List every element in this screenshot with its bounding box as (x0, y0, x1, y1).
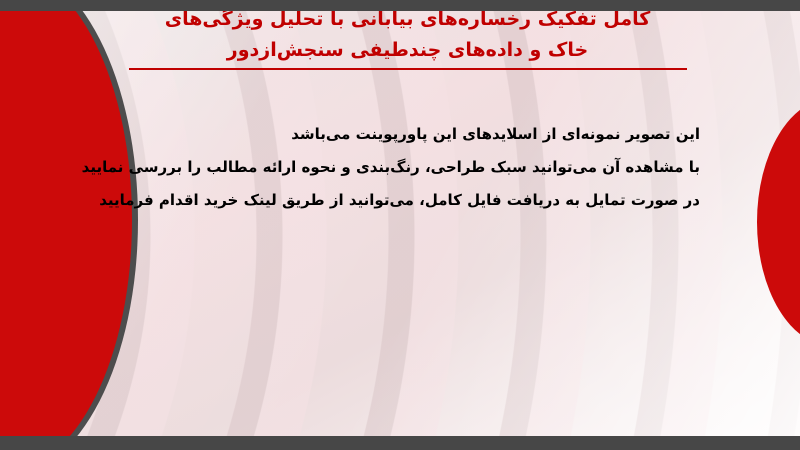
slide-content: کامل تفکیک رخساره‌های بیابانی با تحلیل و… (0, 0, 800, 450)
presentation-slide: کامل تفکیک رخساره‌های بیابانی با تحلیل و… (0, 0, 800, 450)
slide-top-frame-bar (0, 0, 800, 11)
body-line-2: با مشاهده آن می‌توانید سبک طراحی، رنگ‌بن… (60, 151, 700, 184)
body-line-1: این تصویر نمونه‌ای از اسلایدهای این پاور… (60, 118, 700, 151)
slide-body-text: این تصویر نمونه‌ای از اسلایدهای این پاور… (60, 118, 700, 217)
body-line-3: در صورت تمایل به دریافت فایل کامل، می‌تو… (60, 184, 700, 217)
title-underline-rule (129, 68, 687, 70)
slide-title: کامل تفکیک رخساره‌های بیابانی با تحلیل و… (120, 4, 695, 70)
title-line-2: خاک و داده‌های چندطیفی سنجش‌ازدور (120, 35, 695, 66)
slide-bottom-frame-bar (0, 436, 800, 450)
